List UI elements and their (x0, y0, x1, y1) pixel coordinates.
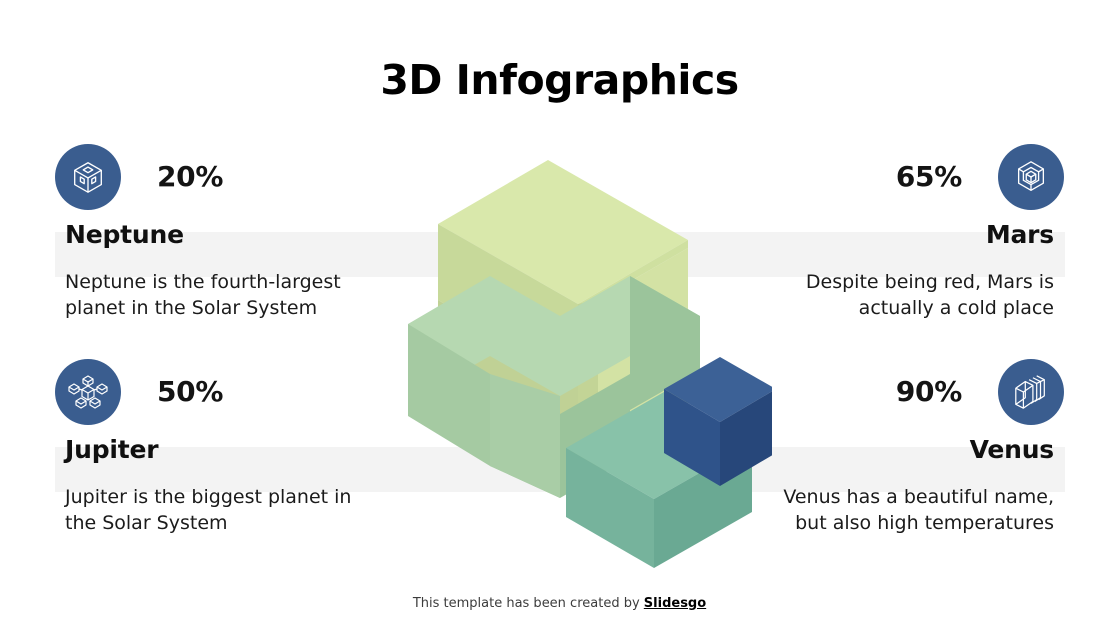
item-mars-header: 65% (644, 141, 1064, 212)
slide-canvas: 3D Infographics (0, 0, 1119, 629)
item-jupiter: 50% Jupiter Jupiter is the biggest plane… (55, 356, 475, 536)
footer-credit: This template has been created by Slides… (0, 596, 1119, 611)
item-jupiter-percent: 50% (157, 375, 223, 408)
item-jupiter-name: Jupiter (55, 427, 475, 472)
item-jupiter-header: 50% (55, 356, 475, 427)
item-venus-header: 90% (644, 356, 1064, 427)
item-neptune-name: Neptune (55, 212, 475, 257)
hexagon-cube-icon (998, 144, 1064, 210)
item-mars-description: Despite being red, Mars is actually a co… (754, 269, 1064, 321)
stacked-layers-icon (998, 359, 1064, 425)
item-venus-percent: 90% (896, 375, 962, 408)
slidesgo-link[interactable]: Slidesgo (644, 596, 706, 611)
item-jupiter-description: Jupiter is the biggest planet in the Sol… (55, 484, 365, 536)
cube-outline-icon (55, 144, 121, 210)
footer-text: This template has been created by (413, 596, 644, 611)
item-neptune: 20% Neptune Neptune is the fourth-larges… (55, 141, 475, 321)
item-venus: 90% Venus Venus has a beautiful name, bu… (644, 356, 1064, 536)
item-mars-name: Mars (644, 212, 1064, 257)
item-neptune-description: Neptune is the fourth-largest planet in … (55, 269, 365, 321)
item-mars-percent: 65% (896, 160, 962, 193)
item-mars: 65% Mars Despite being red, Mars is actu… (644, 141, 1064, 321)
item-venus-name: Venus (644, 427, 1064, 472)
item-neptune-percent: 20% (157, 160, 223, 193)
molecule-cube-icon (55, 359, 121, 425)
page-title: 3D Infographics (0, 56, 1119, 104)
item-neptune-header: 20% (55, 141, 475, 212)
item-venus-description: Venus has a beautiful name, but also hig… (754, 484, 1064, 536)
